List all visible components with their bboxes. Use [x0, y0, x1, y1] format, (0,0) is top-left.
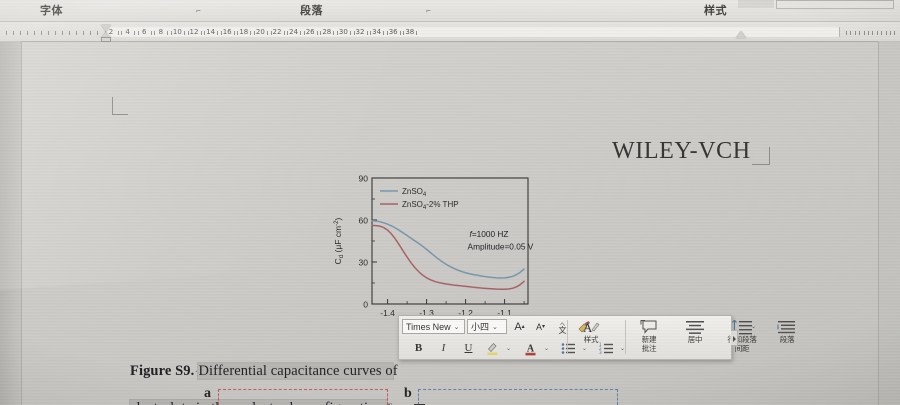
y-tick-label: 0	[363, 299, 368, 309]
ruler-number: 38	[405, 28, 414, 36]
wiley-vch-logo: WILEY WILEY-VCH	[612, 138, 751, 165]
new-comment-icon	[640, 318, 658, 336]
ruler-number: 22	[273, 28, 282, 36]
italic-button[interactable]: I	[436, 340, 451, 357]
subfigure-b: b	[418, 387, 618, 405]
mini-formatting-toolbar[interactable]: Times New ⌄ 小四 ⌄ A▴ A▾ ヘ 文	[398, 315, 732, 360]
caption-line-1[interactable]: Figure S9.·Differential capacitance curv…	[130, 363, 398, 380]
ruler-number: 14	[206, 28, 215, 36]
chart-annotation-0: f=1000 HZ	[470, 229, 509, 239]
shrink-font-arrow: ▾	[542, 323, 545, 330]
styles-button[interactable]: A 样式	[571, 318, 611, 359]
wiley-logo-text: WILEY-VCH	[612, 138, 751, 164]
ruler-number: 16	[223, 28, 232, 36]
page-left-gutter	[0, 42, 22, 405]
ruler-ticks: 2468101214161820222426283032343638	[0, 26, 900, 38]
subfigure-a-label: a	[204, 386, 211, 402]
right-indent-marker[interactable]	[736, 31, 746, 38]
paragraph-button[interactable]: 段落	[767, 318, 807, 359]
legend-label-1: ZnSO4-2% THP	[402, 200, 459, 211]
ribbon-group-font-label: 字体	[40, 2, 63, 18]
horizontal-ruler[interactable]: 2468101214161820222426283032343638	[0, 22, 900, 42]
caption-line-1-tail: f	[393, 363, 398, 379]
margin-mark-top-right	[752, 147, 770, 165]
ruler-number: 12	[190, 28, 199, 36]
ribbon-group-paragraph-label: 段落	[300, 2, 323, 18]
svg-text:文: 文	[559, 325, 567, 334]
caption-figure-number: Figure S9.	[130, 363, 194, 379]
first-line-indent-marker[interactable]	[101, 25, 111, 32]
highlight-chevron-down-icon[interactable]: ⌄	[501, 340, 516, 357]
paragraph-settings-icon	[777, 318, 797, 336]
ribbon: 字体 ⌐ 段落 ⌐ 样式	[0, 0, 900, 22]
subfigure-b-label: b	[404, 386, 412, 402]
styles-gallery-strip[interactable]	[776, 0, 894, 9]
font-name-chevron-down-icon[interactable]: ⌄	[454, 323, 460, 331]
text-highlight-icon[interactable]	[485, 340, 500, 357]
caption-line-1-selected-text: Differential capacitance curves o	[198, 363, 392, 379]
ruler-number: 4	[125, 28, 129, 36]
center-align-label: 居中	[688, 336, 703, 345]
toolbar-separator-2	[625, 320, 626, 354]
y-tick-label: 60	[359, 215, 369, 225]
styles-icon: A	[581, 318, 601, 336]
ribbon-group-styles-label: 样式	[704, 2, 727, 18]
legend-label-0: ZnSO4	[402, 187, 427, 198]
new-comment-button[interactable]: 新建 批注	[629, 318, 669, 359]
shrink-font-icon[interactable]: A▾	[533, 318, 548, 335]
grow-font-arrow: ▴	[522, 323, 525, 330]
font-dialog-launcher-icon[interactable]: ⌐	[194, 6, 203, 15]
paragraph-button-label: 段落	[780, 336, 795, 345]
ruler-number: 28	[322, 28, 331, 36]
ruler-number: 10	[173, 28, 182, 36]
line-paragraph-spacing-button[interactable]: 行和段落 间距	[715, 318, 769, 359]
x-tick-label: -1.4	[380, 308, 395, 318]
paragraph-dialog-launcher-icon[interactable]: ⌐	[424, 6, 433, 15]
subfigure-a: a	[218, 387, 388, 405]
ruler-number: 34	[372, 28, 381, 36]
svg-text:A: A	[583, 320, 593, 335]
underline-button[interactable]: U	[461, 340, 476, 357]
ruler-number: 30	[339, 28, 348, 36]
center-align-button[interactable]: 居中	[675, 318, 715, 359]
ruler-number: 8	[159, 28, 163, 36]
font-size-value: 小四	[471, 320, 489, 333]
toolbar-overflow-button[interactable]	[731, 330, 738, 346]
font-size-chevron-down-icon[interactable]: ⌄	[492, 323, 498, 331]
new-comment-label-line2: 批注	[642, 345, 657, 354]
subfigure-b-dashed-box	[418, 389, 618, 405]
ruler-number: 20	[256, 28, 265, 36]
font-name-value: Times New	[406, 322, 451, 332]
line-spacing-chevron-down-icon[interactable]: ⌄	[751, 323, 756, 330]
ruler-number: 32	[356, 28, 365, 36]
align-center-icon	[685, 318, 705, 336]
y-tick-label: 30	[359, 257, 369, 267]
ruler-number: 26	[306, 28, 315, 36]
y-tick-label: 90	[359, 173, 369, 183]
ruler-number: 24	[289, 28, 298, 36]
font-size-combobox[interactable]: 小四 ⌄	[467, 319, 507, 334]
grow-font-letter: A	[514, 321, 521, 333]
bold-button[interactable]: B	[411, 340, 426, 357]
margin-mark-top-left	[112, 97, 128, 115]
ruler-number: 36	[389, 28, 398, 36]
ribbon-right-spacer	[738, 0, 774, 8]
y-axis-label: Cd (μF cm-2)	[333, 218, 345, 265]
toolbar-separator-1	[567, 320, 568, 354]
grow-font-icon[interactable]: A▴	[512, 318, 527, 335]
numbering-chevron-down-icon[interactable]: ⌄	[615, 340, 630, 357]
chart-annotation-1: Amplitude=0.05 V	[468, 241, 534, 251]
subfigure-a-dashed-box	[218, 389, 388, 405]
styles-button-label: 样式	[584, 336, 599, 345]
font-color-icon[interactable]: A	[523, 340, 538, 357]
ruler-number: 18	[239, 28, 248, 36]
font-name-combobox[interactable]: Times New ⌄	[402, 319, 465, 334]
ruler-number: 6	[142, 28, 146, 36]
font-color-chevron-down-icon[interactable]: ⌄	[539, 340, 554, 357]
